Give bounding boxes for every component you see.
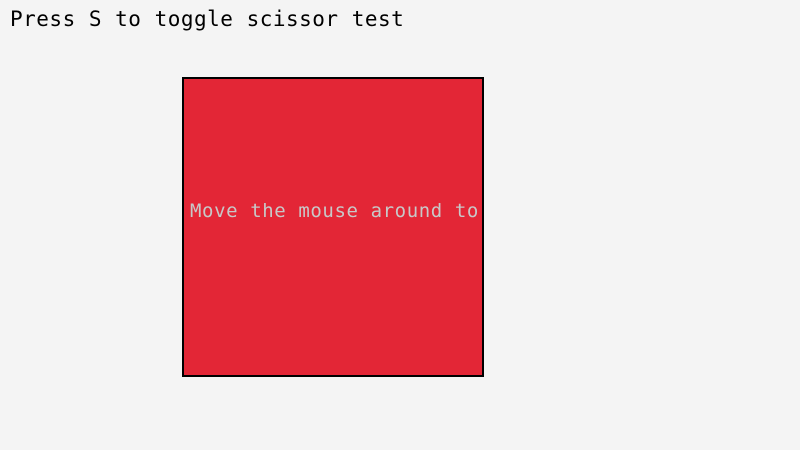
scissor-toggle-hint: Press S to toggle scissor test [10, 7, 404, 31]
raylib-canvas: Press S to toggle scissor test Move the … [0, 0, 800, 450]
clipped-message-text: Move the mouse around to reveal the mess… [190, 200, 484, 222]
scissor-rectangle[interactable]: Move the mouse around to reveal the mess… [182, 77, 484, 377]
